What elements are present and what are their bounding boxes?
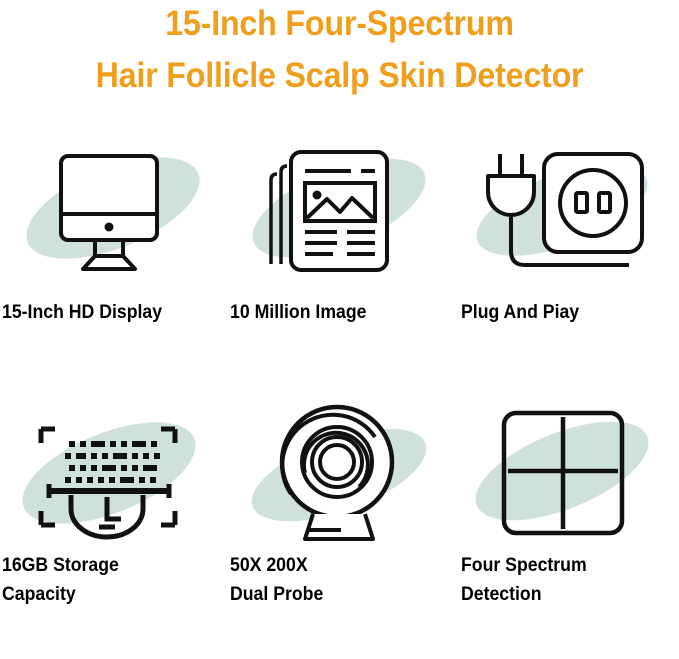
feature-caption: 10 Million Image bbox=[230, 298, 366, 327]
feature-grid: 15-Inch HD Display bbox=[0, 126, 679, 659]
infographic-page: 15-Inch Four-Spectrum Hair Follicle Scal… bbox=[0, 0, 679, 659]
feature-cell: 50X 200X Dual Probe bbox=[226, 393, 452, 659]
plug-socket-icon bbox=[466, 138, 666, 288]
feature-caption: 15-Inch HD Display bbox=[2, 298, 162, 327]
feature-caption: Four Spectrum Detection bbox=[461, 551, 587, 610]
feature-caption: 50X 200X Dual Probe bbox=[230, 551, 323, 610]
feature-cell: 15-Inch HD Display bbox=[0, 126, 226, 393]
page-title: 15-Inch Four-Spectrum Hair Follicle Scal… bbox=[0, 0, 679, 93]
feature-caption: Plug And Piay bbox=[461, 298, 579, 327]
feature-caption: 16GB Storage Capacity bbox=[2, 551, 119, 610]
title-line-1: 15-Inch Four-Spectrum bbox=[27, 6, 652, 41]
feature-cell: 10 Million Image bbox=[226, 126, 452, 393]
feature-cell: 16GB Storage Capacity bbox=[0, 393, 226, 659]
storage-capacity-icon bbox=[13, 399, 213, 549]
title-line-2: Hair Follicle Scalp Skin Detector bbox=[27, 58, 652, 93]
feature-cell: Plug And Piay bbox=[453, 126, 679, 393]
feature-cell: Four Spectrum Detection bbox=[453, 393, 679, 659]
webcam-probe-icon bbox=[239, 399, 439, 549]
four-quadrant-spectrum-icon bbox=[466, 399, 666, 549]
monitor-icon bbox=[13, 138, 213, 288]
document-image-icon bbox=[239, 138, 439, 288]
